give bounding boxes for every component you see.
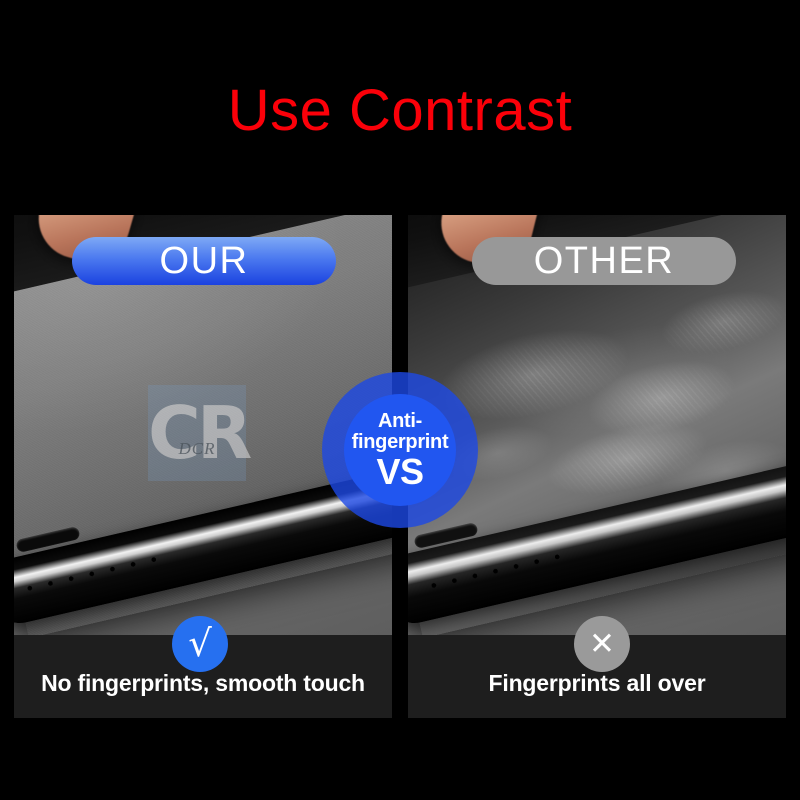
page-title: Use Contrast (0, 82, 800, 140)
vs-label-main: VS (376, 454, 423, 490)
cross-glyph: ✕ (589, 629, 615, 660)
brand-watermark: CR DCR (148, 385, 246, 481)
vs-badge: Anti- fingerprint VS (322, 372, 478, 528)
vs-label-line2: fingerprint (352, 431, 449, 453)
watermark-letters: CR (148, 385, 246, 481)
check-glyph: √ (188, 625, 212, 662)
vs-label-line1: Anti- (378, 410, 422, 432)
vs-badge-core: Anti- fingerprint VS (344, 394, 456, 506)
poster-canvas: Use Contrast No fingerprints, smooth tou… (0, 0, 800, 800)
label-pill-other: OTHER (472, 237, 736, 285)
label-pill-our: OUR (72, 237, 336, 285)
check-icon: √ (172, 616, 228, 672)
cross-icon: ✕ (574, 616, 630, 672)
watermark-subtext: DCR (148, 439, 246, 459)
